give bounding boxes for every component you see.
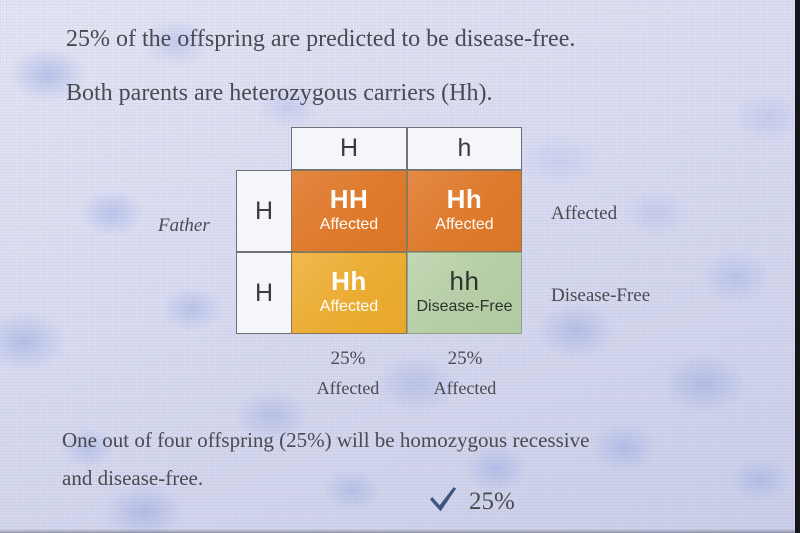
punnett-square-slide: 25% of the offspring are predicted to be… — [0, 0, 800, 533]
allele-letter: H — [255, 199, 273, 224]
answer-value: 25% — [469, 488, 515, 516]
genotype-label: Hh — [447, 186, 483, 213]
column-total-status: Affected — [405, 378, 525, 399]
column-total-1: 25% Affected — [288, 348, 408, 399]
column-total-status: Affected — [288, 378, 408, 399]
allele-letter: H — [340, 136, 358, 161]
punnett-square-grid: H h H H HH Affected Hh Affected Hh Affec… — [236, 127, 522, 334]
column-header-allele-2: h — [407, 127, 522, 170]
genotype-label: HH — [330, 186, 369, 213]
phenotype-label: Affected — [320, 215, 378, 236]
checkmark-icon — [428, 486, 458, 518]
row-outcome-label-1: Affected — [551, 203, 617, 225]
genotype-label: Hh — [331, 268, 367, 295]
footnote-line-2: and disease-free. — [62, 466, 203, 491]
phenotype-label: Disease-Free — [416, 297, 512, 318]
punnett-cell-offspring-4: hh Disease-Free — [407, 252, 522, 334]
row-header-allele-2: H — [236, 252, 292, 334]
column-header-allele-1: H — [291, 127, 407, 170]
phenotype-label: Affected — [320, 297, 378, 318]
slide-bottom-edge — [0, 529, 800, 533]
headline-secondary: Both parents are heterozygous carriers (… — [66, 80, 493, 107]
footnote-line-1: One out of four offspring (25%) will be … — [62, 428, 589, 453]
genotype-label: hh — [450, 268, 480, 295]
allele-letter: H — [255, 281, 273, 306]
row-outcome-label-2: Disease-Free — [551, 285, 650, 307]
answer-callout: 25% — [428, 486, 515, 518]
headline-primary: 25% of the offspring are predicted to be… — [66, 26, 575, 53]
punnett-cell-offspring-3: Hh Affected — [291, 252, 407, 334]
phenotype-label: Affected — [435, 215, 493, 236]
row-header-allele-1: H — [236, 170, 292, 252]
column-total-percent: 25% — [405, 348, 525, 370]
column-total-2: 25% Affected — [405, 348, 525, 399]
parent-label-father: Father — [158, 215, 210, 237]
punnett-cell-offspring-1: HH Affected — [291, 170, 407, 252]
slide-right-edge — [795, 0, 800, 533]
allele-letter: h — [458, 136, 472, 161]
punnett-cell-offspring-2: Hh Affected — [407, 170, 522, 252]
column-total-percent: 25% — [288, 348, 408, 370]
